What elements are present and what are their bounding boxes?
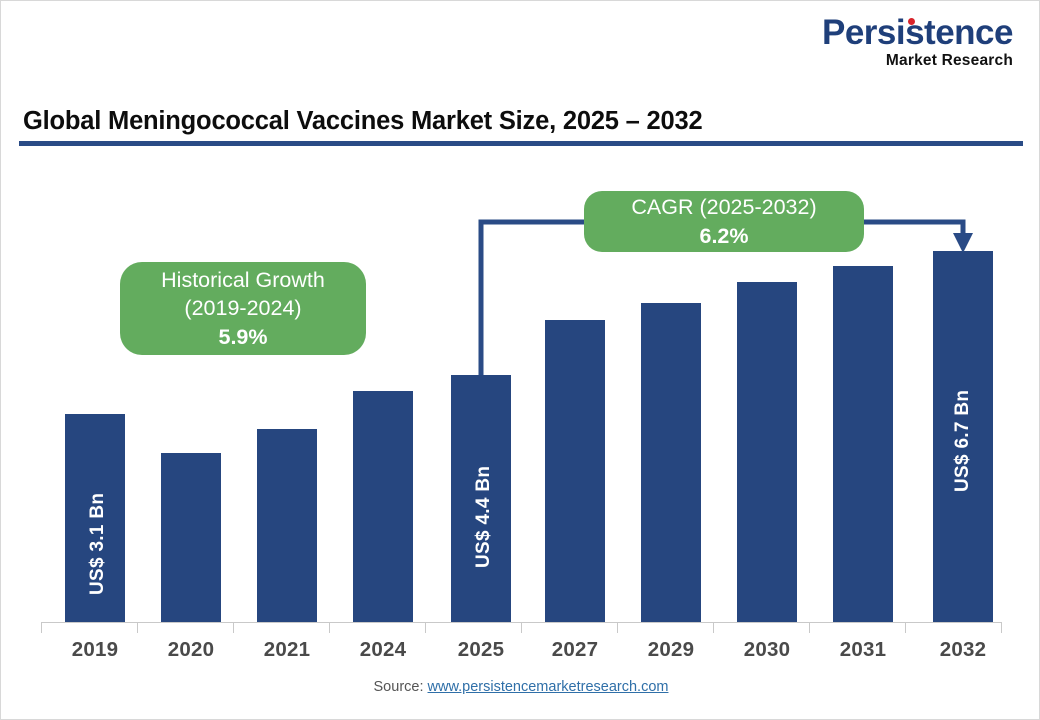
bar-2020[interactable] <box>161 453 221 622</box>
bar-chart: US$ 3.1 Bn US$ 4.4 Bn US$ 6.7 Bn 2019 20… <box>1 1 1040 720</box>
axis-tick <box>905 622 906 633</box>
historical-growth-line1: Historical Growth <box>161 266 325 295</box>
x-label-2029: 2029 <box>621 638 721 662</box>
source-note: Source: www.persistencemarketresearch.co… <box>1 679 1040 695</box>
x-label-2027: 2027 <box>525 638 625 662</box>
historical-growth-value: 5.9% <box>218 323 267 352</box>
axis-tick <box>1001 622 1002 633</box>
chart-page: Persistence Market Research Global Menin… <box>0 0 1040 720</box>
x-label-2019: 2019 <box>45 638 145 662</box>
axis-tick <box>521 622 522 633</box>
axis-tick <box>41 622 42 633</box>
bar-2024[interactable] <box>353 391 413 622</box>
bar-value-label-2019: US$ 3.1 Bn <box>87 407 109 595</box>
bar-2031[interactable] <box>833 266 893 622</box>
axis-tick <box>425 622 426 633</box>
bar-value-label-2025: US$ 4.4 Bn <box>473 380 495 568</box>
x-label-2020: 2020 <box>141 638 241 662</box>
x-label-2030: 2030 <box>717 638 817 662</box>
x-label-2031: 2031 <box>813 638 913 662</box>
x-label-2024: 2024 <box>333 638 433 662</box>
x-label-2025: 2025 <box>431 638 531 662</box>
axis-tick <box>137 622 138 633</box>
axis-tick <box>233 622 234 633</box>
axis-tick <box>329 622 330 633</box>
historical-growth-line2: (2019-2024) <box>184 294 301 323</box>
x-label-2032: 2032 <box>913 638 1013 662</box>
bar-2029[interactable] <box>641 303 701 622</box>
cagr-line1: CAGR (2025-2032) <box>631 193 816 222</box>
cagr-value: 6.2% <box>699 222 748 251</box>
bar-value-label-2032: US$ 6.7 Bn <box>952 304 974 492</box>
source-prefix: Source: <box>374 679 428 695</box>
bar-2030[interactable] <box>737 282 797 622</box>
bar-2021[interactable] <box>257 429 317 622</box>
axis-tick <box>617 622 618 633</box>
axis-tick <box>713 622 714 633</box>
historical-growth-callout: Historical Growth (2019-2024) 5.9% <box>120 262 366 355</box>
cagr-callout: CAGR (2025-2032) 6.2% <box>584 191 864 252</box>
bar-2027[interactable] <box>545 320 605 622</box>
source-link[interactable]: www.persistencemarketresearch.com <box>428 679 669 695</box>
axis-tick <box>809 622 810 633</box>
x-label-2021: 2021 <box>237 638 337 662</box>
